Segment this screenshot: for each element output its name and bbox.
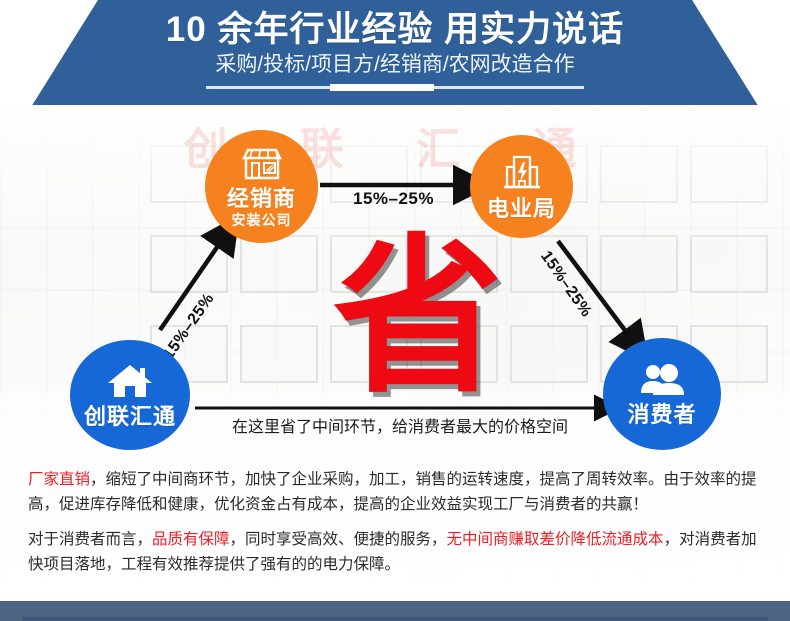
footer-accent-line <box>22 617 768 621</box>
paragraph-1: 厂家直销，缩短了中间商环节，加快了企业采购，加工，销售的运转速度，提高了周转效率… <box>28 467 768 517</box>
center-caption: 在这里省了中间环节，给消费者最大的价格空间 <box>205 413 595 437</box>
shop-icon <box>240 147 284 185</box>
node-dealer-sublabel: 安装公司 <box>232 213 292 227</box>
diagram-stage: 创 联 汇 通 15%–25% 15%–25% 15%–25% 省 在这里省了中… <box>0 105 790 601</box>
node-bureau[interactable]: 电业局 <box>470 135 573 238</box>
node-dealer-label: 经销商 <box>227 188 296 210</box>
home-icon <box>107 363 153 403</box>
node-brand[interactable]: 创联汇通 <box>70 340 190 450</box>
header-subtitle: 采购/投标/项目方/经销商/农网改造合作 <box>215 51 574 79</box>
label-dealer-to-bureau: 15%–25% <box>353 189 434 209</box>
paragraph-2: 对于消费者而言，品质有保障，同时享受高效、便捷的服务，无中间商赚取差价降低流通成… <box>28 527 768 577</box>
paragraph-1-highlight: 厂家直销 <box>28 471 90 488</box>
paragraph-2-highlight-2: 无中间商赚取差价降低流通成本 <box>447 531 664 548</box>
node-brand-label: 创联汇通 <box>84 406 176 428</box>
node-consumer[interactable]: 消费者 <box>603 338 721 450</box>
center-character: 省 <box>333 233 503 403</box>
paragraph-2-lead: 对于消费者而言， <box>28 531 152 548</box>
paragraph-1-rest: ，缩短了中间商环节，加快了企业采购，加工，销售的运转速度，提高了周转效率。由于效… <box>28 471 757 513</box>
power-building-icon <box>501 153 543 195</box>
header-divider <box>206 84 584 90</box>
users-icon <box>639 363 685 401</box>
node-bureau-label: 电业局 <box>487 198 556 220</box>
node-dealer[interactable]: 经销商 安装公司 <box>205 130 318 243</box>
page-header: 10 余年行业经验 用实力说话 采购/投标/项目方/经销商/农网改造合作 <box>0 0 790 105</box>
header-title: 10 余年行业经验 用实力说话 <box>166 8 624 52</box>
paragraph-2-highlight-1: 品质有保障 <box>152 531 230 548</box>
node-consumer-label: 消费者 <box>627 404 696 426</box>
page-root: 10 余年行业经验 用实力说话 采购/投标/项目方/经销商/农网改造合作 <box>0 0 790 621</box>
paragraph-2-mid: ，同时享受高效、便捷的服务， <box>230 531 447 548</box>
